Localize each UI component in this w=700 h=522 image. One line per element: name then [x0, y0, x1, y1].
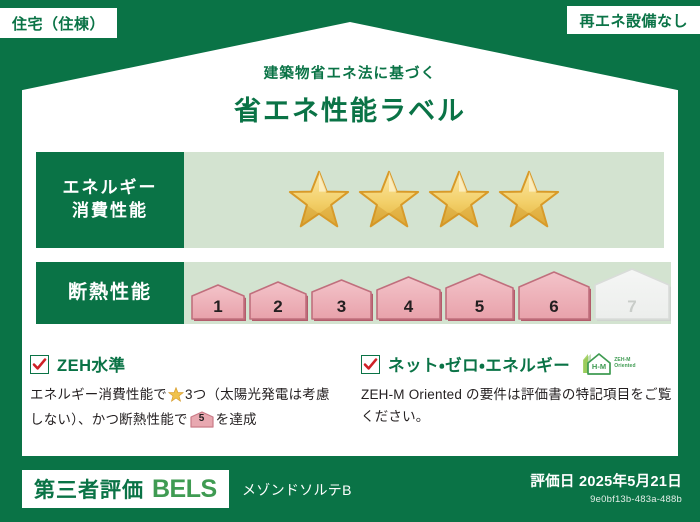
zeh-heading-row: ZEH水準 — [30, 352, 343, 376]
tag-building-type: 住宅（住棟） — [0, 8, 117, 38]
insulation-grade-value: 3 — [310, 297, 373, 317]
bels-badge: 第三者評価 BELS — [22, 470, 229, 508]
insulation-grade-active: 6 — [517, 265, 591, 321]
zeh-m-house-icon: H-M — [582, 352, 612, 376]
insulation-grade-active: 4 — [375, 265, 442, 321]
insulation-grade-value: 6 — [517, 297, 591, 317]
row-insulation-performance: 断熱性能 1234567 — [36, 262, 664, 324]
tag-renewable-equipment: 再エネ設備なし — [567, 6, 700, 34]
netzero-heading-row: ネット・ゼロ・エネルギー H-M ZEH-M Oriented — [361, 352, 674, 376]
star-icon-filled — [498, 170, 560, 230]
insulation-grade-value: 5 — [444, 297, 515, 317]
row-energy-label-line2: 消費性能 — [72, 200, 148, 223]
evaluation-id: 9e0bf13b-483a-488b — [530, 494, 682, 505]
row-energy-performance: エネルギー 消費性能 — [36, 152, 664, 248]
netzero-description: ZEH-M Oriented の要件は評価書の特記項目をご覧ください。 — [361, 384, 674, 429]
footer-meta: 評価日 2025年5月21日 9e0bf13b-483a-488b — [530, 470, 682, 505]
star-icon-filled — [288, 170, 350, 230]
page-title: 省エネ性能ラベル — [0, 89, 700, 128]
zeh-heading: ZEH水準 — [57, 352, 126, 376]
tag-renewable-equipment-label: 再エネ設備なし — [579, 10, 688, 31]
row-insulation-label-text: 断熱性能 — [68, 280, 152, 306]
info-column-zeh: ZEH水準 エネルギー消費性能で 3つ（太陽光発電は考慮しない）、かつ断熱性能で… — [30, 352, 343, 432]
bels-badge-en-label: BELS — [152, 475, 217, 504]
insulation-grade-value: 4 — [375, 297, 442, 317]
zeh-m-logo-line2: Oriented — [614, 363, 635, 369]
insulation-grade-scale: 1234567 — [184, 262, 671, 324]
insulation-grade-active: 5 — [444, 265, 515, 321]
building-name: メゾンドソルテB — [242, 480, 352, 500]
row-energy-label-line1: エネルギー — [63, 177, 158, 200]
footer: 第三者評価 BELS メゾンドソルテB 評価日 2025年5月21日 9e0bf… — [0, 456, 700, 522]
info-column-netzero: ネット・ゼロ・エネルギー H-M ZEH-M Oriented ZEH-M Or… — [361, 352, 674, 432]
energy-label-root: 住宅（住棟） 再エネ設備なし 建築物省エネ法に基づく 省エネ性能ラベル エネルギ… — [0, 0, 700, 522]
insulation-grade-value: 2 — [248, 297, 308, 317]
info-columns: ZEH水準 エネルギー消費性能で 3つ（太陽光発電は考慮しない）、かつ断熱性能で… — [30, 352, 674, 432]
zeh-m-oriented-logo: H-M ZEH-M Oriented — [582, 352, 635, 376]
zeh-m-logo-caption: ZEH-M Oriented — [614, 358, 635, 370]
star-icon-filled — [428, 170, 490, 230]
zeh-m-mark-text: H-M — [592, 362, 606, 371]
evaluation-date: 評価日 2025年5月21日 — [530, 470, 682, 491]
label-subtitle: 建築物省エネ法に基づく — [0, 62, 700, 83]
insulation-grade-value: 1 — [190, 297, 246, 317]
insulation-grade-active: 1 — [190, 265, 246, 321]
insulation-grade-value: 7 — [593, 297, 671, 317]
tag-building-type-label: 住宅（住棟） — [12, 13, 105, 34]
zeh-description: エネルギー消費性能で 3つ（太陽光発電は考慮しない）、かつ断熱性能で 5 を達成 — [30, 384, 343, 432]
inline-star-icon — [168, 387, 184, 409]
inline-grade-badge: 5 — [190, 411, 214, 428]
bels-badge-jp-label: 第三者評価 — [34, 474, 144, 504]
inline-grade-value: 5 — [190, 411, 214, 428]
star-icon-filled — [358, 170, 420, 230]
energy-star-rating — [184, 152, 664, 248]
insulation-grade-active: 2 — [248, 265, 308, 321]
row-insulation-label: 断熱性能 — [36, 262, 184, 324]
zeh-checkbox-checked-icon — [30, 355, 49, 374]
row-energy-label: エネルギー 消費性能 — [36, 152, 184, 248]
netzero-heading: ネット・ゼロ・エネルギー — [388, 352, 570, 376]
title-block: 建築物省エネ法に基づく 省エネ性能ラベル — [0, 62, 700, 128]
netzero-checkbox-checked-icon — [361, 355, 380, 374]
zeh-text-part1: エネルギー消費性能で — [30, 387, 167, 402]
zeh-text-part3: を達成 — [216, 412, 257, 427]
insulation-grade-active: 3 — [310, 265, 373, 321]
insulation-grade-inactive: 7 — [593, 265, 671, 321]
